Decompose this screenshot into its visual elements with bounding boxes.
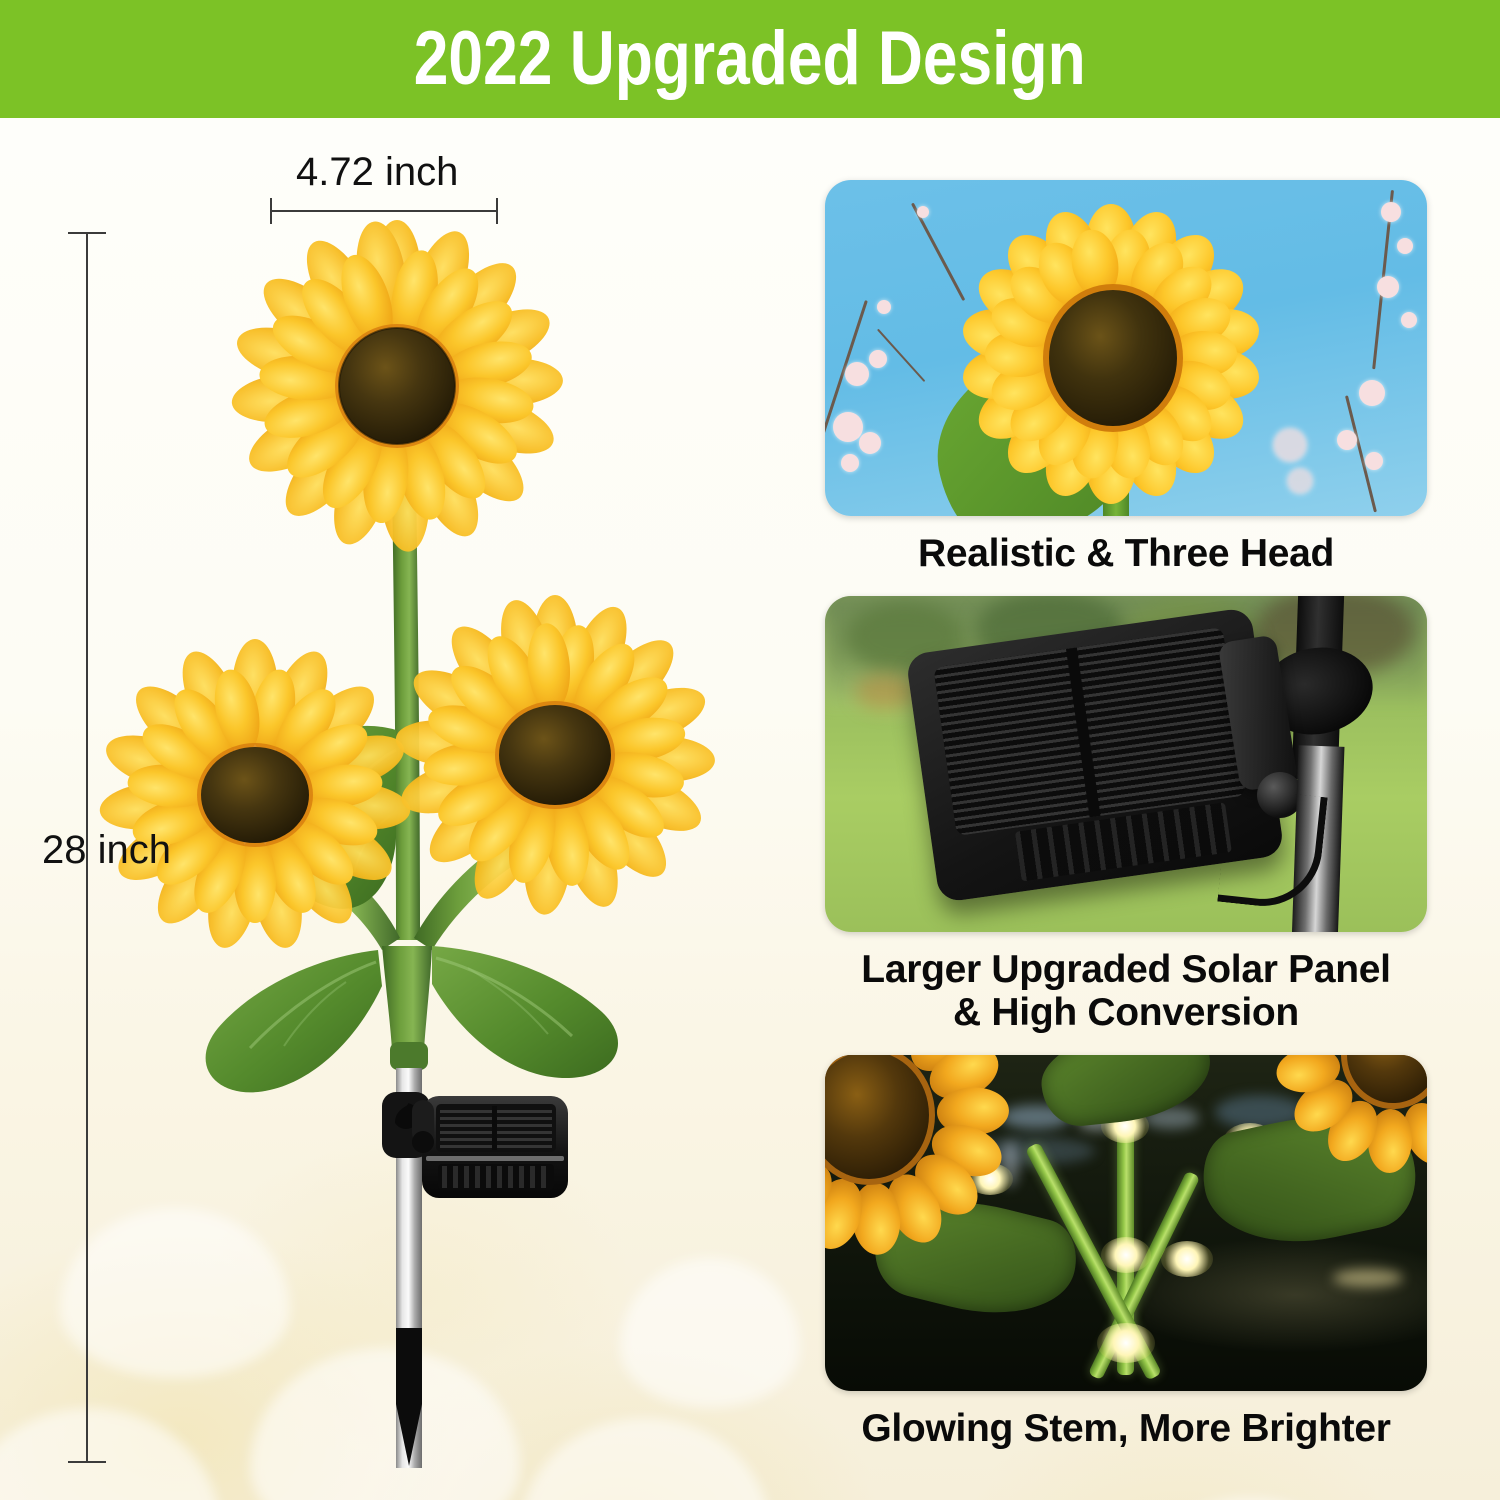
width-dimension-cap-right xyxy=(496,198,498,224)
product-infographic: 2022 Upgraded Design 4.72 inch 28 inch xyxy=(0,0,1500,1500)
sunflower-head xyxy=(1273,1055,1427,1180)
card-caption-glowing-stem: Glowing Stem, More Brighter xyxy=(825,1391,1427,1451)
solar-cell-face xyxy=(933,627,1246,836)
height-dimension-cap-bottom xyxy=(68,1461,106,1463)
product-illustration xyxy=(60,150,780,1490)
width-dimension-line xyxy=(270,210,498,212)
height-dimension-line xyxy=(86,232,88,1462)
page-title: 2022 Upgraded Design xyxy=(414,21,1086,97)
sunflower-head xyxy=(961,204,1261,504)
sunflower-head xyxy=(825,1055,1009,1260)
led-light xyxy=(1097,1323,1155,1363)
photo-larger-solar-panel xyxy=(825,596,1427,932)
photo-glowing-stem xyxy=(825,1055,1427,1391)
height-dimension-label: 28 inch xyxy=(42,828,171,873)
led-light xyxy=(1101,1237,1151,1273)
header-banner: 2022 Upgraded Design xyxy=(0,0,1500,118)
width-dimension-label: 4.72 inch xyxy=(296,150,458,195)
feature-card-realistic-three-head: Realistic & Three Head xyxy=(825,180,1427,576)
photo-realistic-three-head xyxy=(825,180,1427,516)
card-caption-realistic-three-head: Realistic & Three Head xyxy=(825,516,1427,576)
height-dimension-cap-top xyxy=(68,232,106,234)
card-caption-larger-solar-panel: Larger Upgraded Solar Panel & High Conve… xyxy=(825,932,1427,1035)
feature-cards: Realistic & Three Head xyxy=(825,180,1427,1451)
feature-card-glowing-stem: Glowing Stem, More Brighter xyxy=(825,1055,1427,1451)
feature-card-larger-solar-panel: Larger Upgraded Solar Panel & High Conve… xyxy=(825,596,1427,1035)
width-dimension-cap-left xyxy=(270,198,272,224)
led-light xyxy=(1161,1241,1213,1277)
